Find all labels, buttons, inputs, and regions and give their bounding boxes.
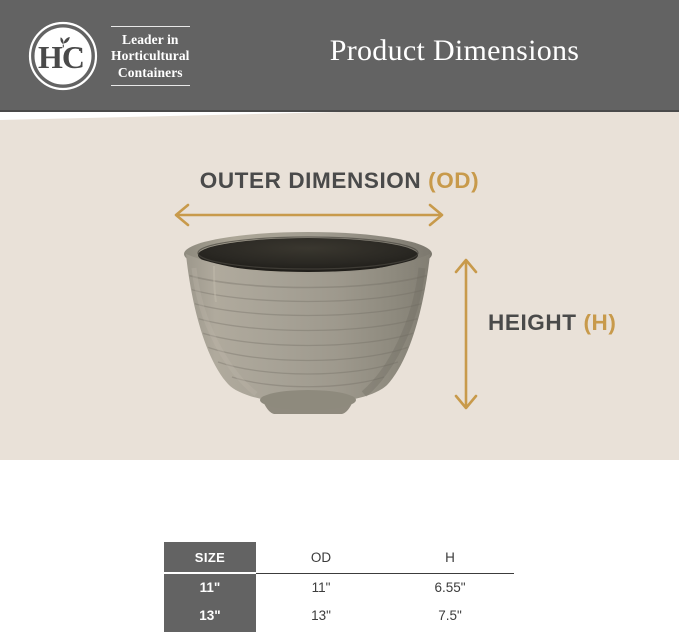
product-dimensions-infographic: HC Leader in Horticultural Containers Pr… <box>0 0 679 636</box>
spec-table: SIZE OD H 11" 11" 6.55" 13" 13" 7.5" <box>164 542 514 634</box>
height-label: HEIGHT (H) <box>488 310 617 336</box>
planter-pot-photo <box>170 228 446 418</box>
horizontal-double-arrow-icon <box>170 203 448 227</box>
height-abbr: (H) <box>583 310 616 335</box>
row-1-size: 13" <box>164 608 256 623</box>
vertical-double-arrow-icon <box>452 254 480 414</box>
row-0-od: 11" <box>256 580 386 595</box>
row-1-h: 7.5" <box>386 608 514 623</box>
row-0-h: 6.55" <box>386 580 514 595</box>
page-title: Product Dimensions <box>0 34 679 68</box>
outer-dimension-label: OUTER DIMENSION (OD) <box>0 168 679 194</box>
outer-dimension-abbr: (OD) <box>428 168 479 193</box>
outer-dimension-text: OUTER DIMENSION <box>200 168 422 193</box>
table-header-rule <box>256 573 514 574</box>
row-0-size: 11" <box>164 580 256 595</box>
row-1-od: 13" <box>256 608 386 623</box>
column-header-od: OD <box>256 550 386 565</box>
column-header-h: H <box>386 550 514 565</box>
column-header-size: SIZE <box>164 550 256 565</box>
header-bar: HC Leader in Horticultural Containers Pr… <box>0 0 679 112</box>
height-text: HEIGHT <box>488 310 577 335</box>
